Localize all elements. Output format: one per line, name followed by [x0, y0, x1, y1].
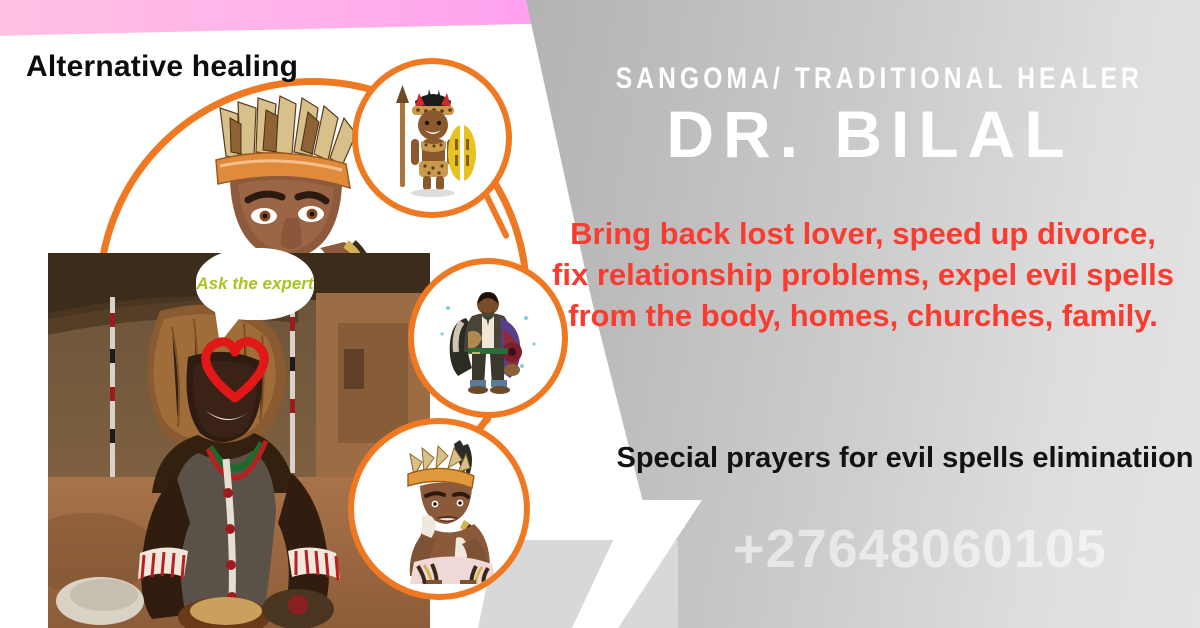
phone-watermark: +27648060105: [640, 518, 1200, 580]
top-pink-bar: [0, 0, 600, 36]
brand-name: DR. BILAL: [560, 100, 1180, 169]
poster-canvas: Alternative healing: [0, 0, 1200, 628]
badge-circle-2: [408, 258, 568, 418]
page-title: Alternative healing: [26, 50, 298, 84]
badge-circle-3: [348, 418, 530, 600]
prayers-text: Special prayers for evil spells eliminat…: [615, 440, 1195, 478]
speech-bubble-text: Ask the expert: [196, 275, 313, 294]
traditional-healer-illustration: [424, 274, 552, 402]
kicker-text: SANGOMA/ TRADITIONAL HEALER: [616, 62, 1124, 96]
services-text: Bring back lost lover, speed up divorce,…: [548, 214, 1178, 337]
heart-icon: [196, 330, 274, 402]
badge-circle-1: [352, 58, 512, 218]
speech-bubble: Ask the expert: [196, 248, 314, 320]
crouching-warrior-illustration: [364, 434, 514, 584]
zulu-warrior-illustration: [367, 73, 497, 203]
